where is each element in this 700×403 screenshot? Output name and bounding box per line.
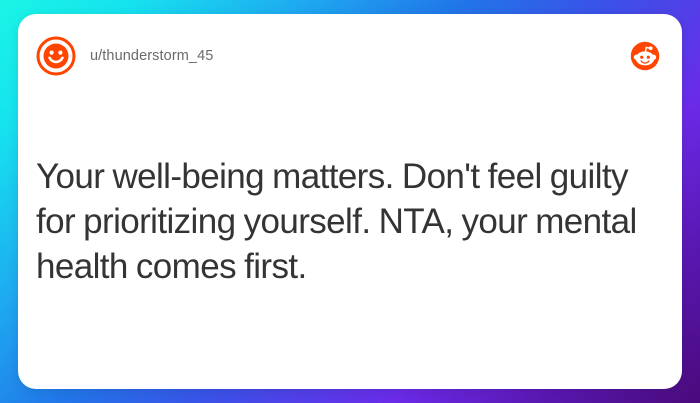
- comment-text: Your well-being matters. Don't feel guil…: [36, 154, 660, 289]
- smiley-face-icon: [36, 36, 76, 76]
- card-body: Your well-being matters. Don't feel guil…: [36, 154, 660, 289]
- reddit-comment-card: u/thunderstorm_45 Your well-being: [18, 14, 682, 389]
- card-header: u/thunderstorm_45: [18, 14, 682, 98]
- username-label: u/thunderstorm_45: [90, 48, 213, 64]
- reddit-snoo-icon[interactable]: [630, 41, 660, 71]
- poster-frame: u/thunderstorm_45 Your well-being: [0, 0, 700, 403]
